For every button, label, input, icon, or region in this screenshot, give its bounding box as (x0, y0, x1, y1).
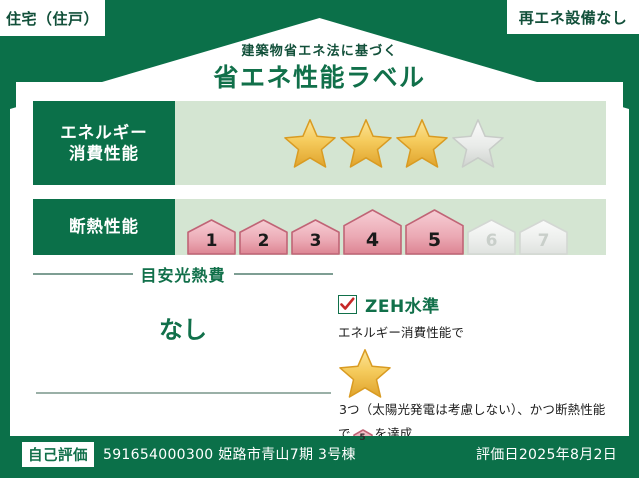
star-rating (175, 101, 606, 185)
insulation-level-badge: 2 (239, 219, 288, 255)
insulation-level-badge: 6 (467, 219, 516, 255)
checkmark-icon (340, 297, 355, 312)
insulation-level-value: 7 (538, 231, 550, 251)
insulation-level-scale: 1 2 3 4 (175, 199, 606, 255)
utility-cost-heading-text: 目安光熱費 (141, 262, 226, 286)
star-filled-icon (338, 346, 392, 400)
insulation-level-value: 3 (310, 231, 322, 251)
star-slot (283, 116, 337, 170)
star-slot (451, 116, 505, 170)
inline-star-icon (338, 346, 610, 400)
label-footer: 自己評価 591654000300 姫路市青山7期 3号棟 評価日2025年8月… (10, 436, 629, 472)
insulation-level-value: 2 (258, 231, 270, 251)
insulation-label-text: 断熱性能 (69, 216, 139, 237)
evaluation-date: 評価日2025年8月2日 (476, 444, 617, 464)
zeh-desc-part1: エネルギー消費性能で (338, 325, 464, 340)
footer-left-group: 自己評価 591654000300 姫路市青山7期 3号棟 (22, 442, 356, 467)
utility-cost-heading: 目安光熱費 (33, 262, 333, 286)
energy-label-line1: エネルギー (60, 122, 148, 143)
insulation-level-badge: 4 (343, 209, 402, 255)
insulation-level-value: 1 (206, 231, 218, 251)
energy-label-line2: 消費性能 (69, 143, 139, 164)
label-title: 省エネ性能ラベル (0, 58, 639, 94)
energy-performance-label: 住宅（住戸） 再エネ設備なし 建築物省エネ法に基づく 省エネ性能ラベル エネルギ… (0, 0, 639, 478)
zeh-title: ZEH水準 (365, 292, 440, 317)
building-type-tag: 住宅（住戸） (0, 0, 105, 36)
star-filled-icon (283, 116, 337, 170)
zeh-checkbox[interactable] (338, 295, 357, 314)
insulation-level-value: 6 (486, 231, 498, 251)
insulation-level-badge: 3 (291, 219, 340, 255)
footer-identifier: 591654000300 姫路市青山7期 3号棟 (103, 444, 356, 464)
insulation-performance-label: 断熱性能 (33, 199, 175, 255)
inline-badge-value: 5 (359, 433, 365, 443)
label-subtitle: 建築物省エネ法に基づく (0, 40, 639, 59)
energy-performance-label: エネルギー 消費性能 (33, 101, 175, 185)
heading-rule-left (33, 273, 133, 275)
evaluation-type-badge: 自己評価 (22, 442, 94, 467)
star-filled-icon (339, 116, 393, 170)
insulation-level-badge: 5 (405, 209, 464, 255)
zeh-description: エネルギー消費性能で 3つ（太陽光発電は考慮しない）、かつ断熱性能で 5を達成 (338, 323, 610, 444)
insulation-level-badge: 1 (187, 219, 236, 255)
star-filled-icon (395, 116, 449, 170)
energy-performance-row: エネルギー 消費性能 (33, 101, 606, 185)
utility-cost-bottom-rule (36, 392, 331, 394)
insulation-level-badge: 7 (519, 219, 568, 255)
zeh-heading: ZEH水準 (338, 292, 610, 317)
heading-rule-right (234, 273, 334, 275)
insulation-level-value: 4 (366, 229, 379, 251)
utility-cost-value: なし (33, 310, 333, 345)
star-empty-icon (451, 116, 505, 170)
insulation-level-value: 5 (428, 229, 441, 251)
zeh-section: ZEH水準 エネルギー消費性能で 3つ（太陽光発電は考慮しない）、かつ断熱性能で… (338, 292, 610, 444)
star-slot (395, 116, 449, 170)
star-slot (339, 116, 393, 170)
renewable-energy-tag: 再エネ設備なし (507, 0, 639, 34)
insulation-performance-row: 断熱性能 1 2 3 (33, 199, 606, 255)
